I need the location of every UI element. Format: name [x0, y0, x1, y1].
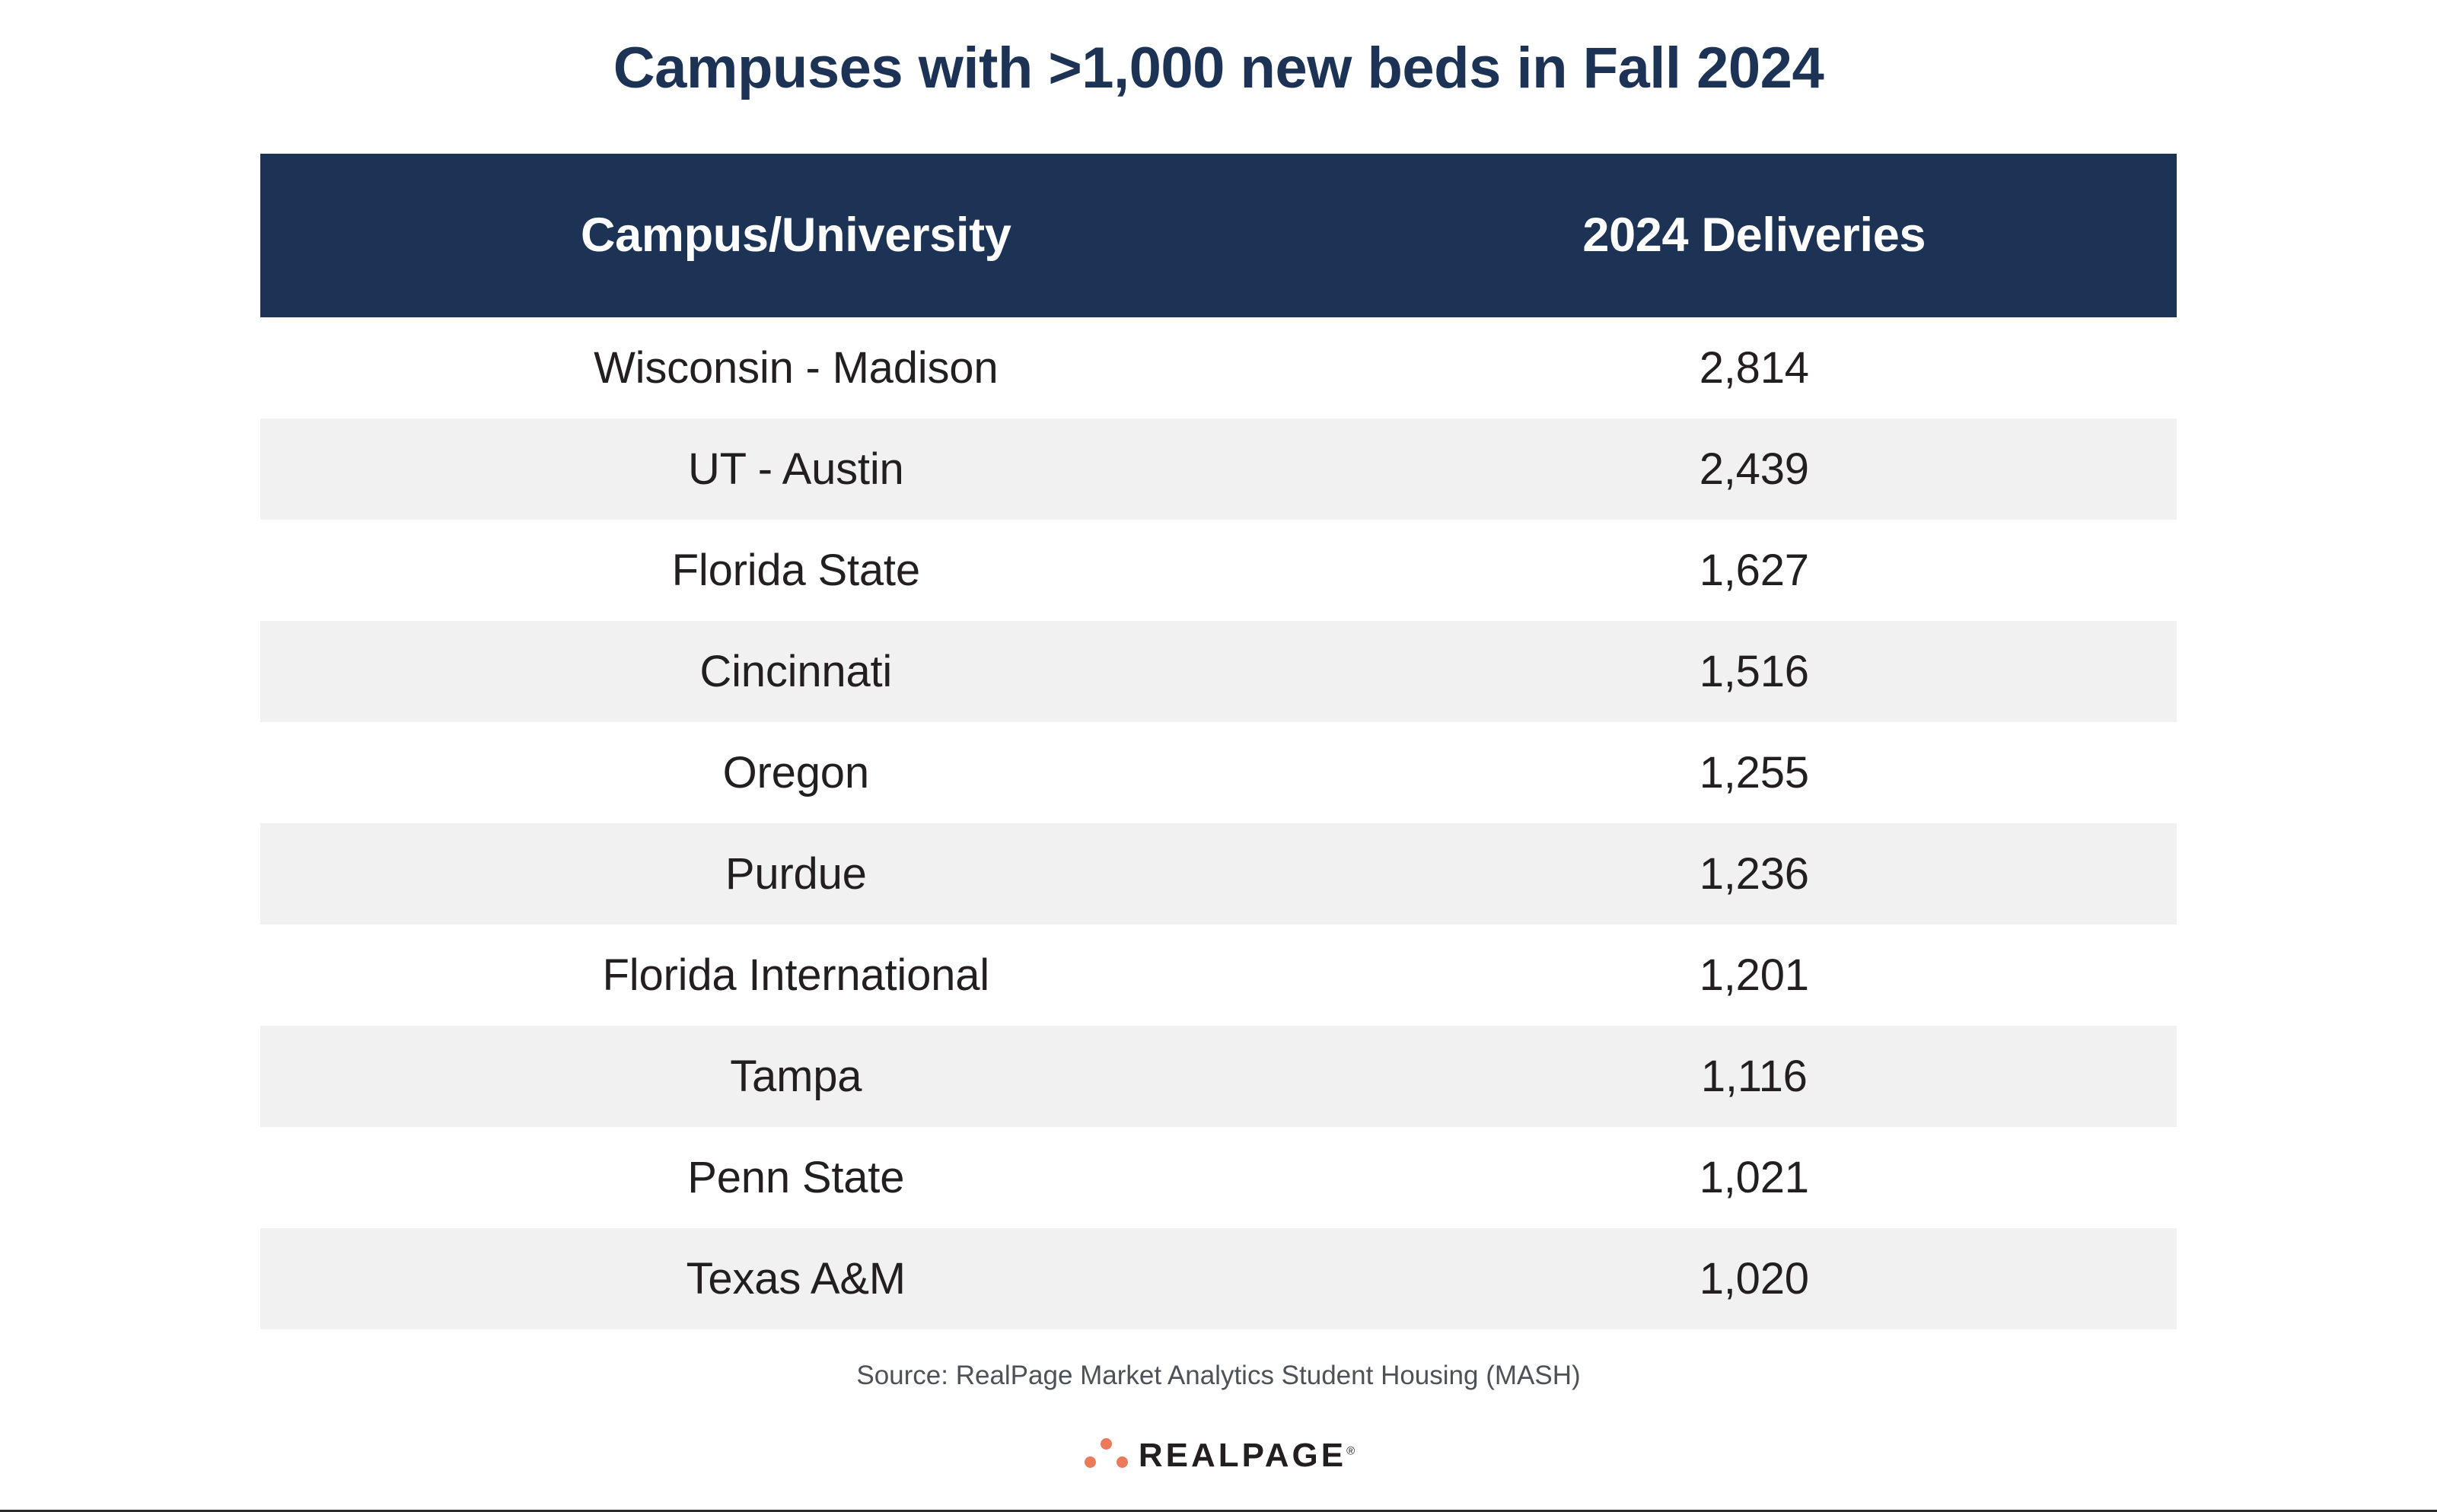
column-header-deliveries: 2024 Deliveries	[1332, 154, 2177, 317]
deliveries-table-container: Campus/University 2024 Deliveries Wiscon…	[260, 154, 2177, 1329]
table-row: Texas A&M1,020	[260, 1228, 2177, 1329]
cell-deliveries: 2,439	[1332, 419, 2177, 520]
source-note: Source: RealPage Market Analytics Studen…	[0, 1362, 2437, 1389]
cell-deliveries: 2,814	[1332, 317, 2177, 419]
cell-deliveries: 1,201	[1332, 925, 2177, 1026]
table-row: Purdue1,236	[260, 823, 2177, 925]
realpage-wordmark-text: REALPAGE	[1139, 1437, 1346, 1474]
cell-campus: Penn State	[260, 1127, 1332, 1228]
cell-campus: Florida International	[260, 925, 1332, 1026]
cell-campus: UT - Austin	[260, 419, 1332, 520]
table-row: Penn State1,021	[260, 1127, 2177, 1228]
table-row: Florida State1,627	[260, 520, 2177, 621]
table-row: UT - Austin2,439	[260, 419, 2177, 520]
table-body: Wisconsin - Madison2,814UT - Austin2,439…	[260, 317, 2177, 1329]
deliveries-table: Campus/University 2024 Deliveries Wiscon…	[260, 154, 2177, 1329]
cell-campus: Wisconsin - Madison	[260, 317, 1332, 419]
cell-deliveries: 1,020	[1332, 1228, 2177, 1329]
table-row: Wisconsin - Madison2,814	[260, 317, 2177, 419]
table-row: Oregon1,255	[260, 722, 2177, 823]
table-row: Tampa1,116	[260, 1026, 2177, 1127]
cell-campus: Tampa	[260, 1026, 1332, 1127]
cell-deliveries: 1,116	[1332, 1026, 2177, 1127]
cell-deliveries: 1,236	[1332, 823, 2177, 925]
cell-campus: Texas A&M	[260, 1228, 1332, 1329]
table-header: Campus/University 2024 Deliveries	[260, 154, 2177, 317]
cell-campus: Oregon	[260, 722, 1332, 823]
table-header-row: Campus/University 2024 Deliveries	[260, 154, 2177, 317]
cell-deliveries: 1,021	[1332, 1127, 2177, 1228]
cell-deliveries: 1,516	[1332, 621, 2177, 722]
realpage-logo: REALPAGE®	[0, 1437, 2437, 1473]
cell-campus: Cincinnati	[260, 621, 1332, 722]
registered-mark-icon: ®	[1346, 1444, 1355, 1457]
cell-campus: Purdue	[260, 823, 1332, 925]
page-title: Campuses with >1,000 new beds in Fall 20…	[0, 0, 2437, 97]
cell-deliveries: 1,255	[1332, 722, 2177, 823]
cell-campus: Florida State	[260, 520, 1332, 621]
table-row: Cincinnati1,516	[260, 621, 2177, 722]
realpage-dots-icon	[1082, 1437, 1129, 1473]
table-row: Florida International1,201	[260, 925, 2177, 1026]
realpage-wordmark: REALPAGE®	[1139, 1439, 1355, 1472]
cell-deliveries: 1,627	[1332, 520, 2177, 621]
column-header-campus: Campus/University	[260, 154, 1332, 317]
